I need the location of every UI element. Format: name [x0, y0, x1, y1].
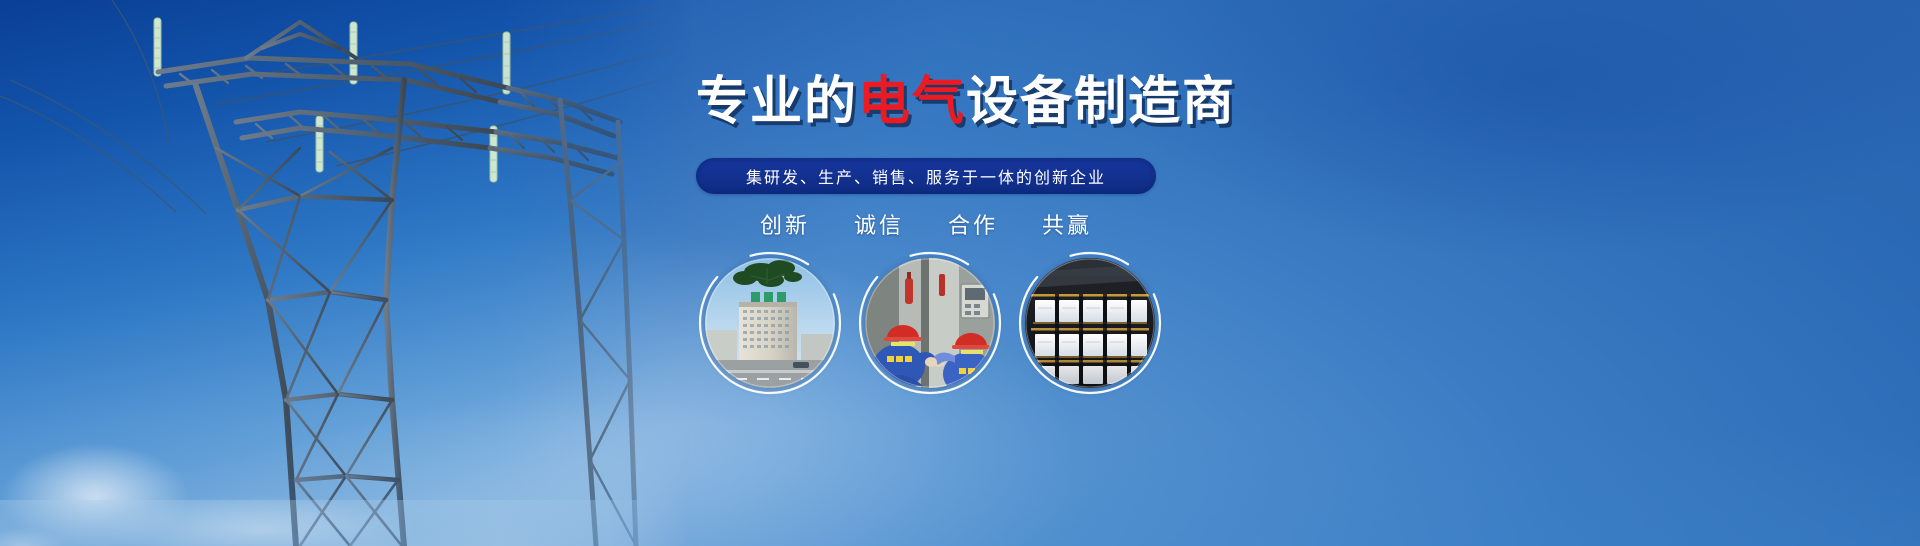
- circle-photo-row: [660, 258, 1200, 428]
- technicians-at-work-photo: [865, 258, 995, 388]
- tower-structure-illustration: [0, 0, 690, 546]
- banner-headline: 专业的电气设备制造商: [696, 72, 1196, 132]
- transmission-tower-photo: [0, 0, 690, 546]
- product-showroom-photo: [1025, 258, 1155, 388]
- subtitle-pill: 集研发、生产、销售、服务于一体的创新企业: [696, 158, 1156, 194]
- headline-part1: 专业的: [696, 73, 858, 131]
- keyword-integrity: 诚信: [854, 208, 904, 240]
- subtitle-pill-text: 集研发、生产、销售、服务于一体的创新企业: [746, 164, 1106, 188]
- keyword-row: 创新 诚信 合作 共赢: [696, 208, 1156, 240]
- insulator-string: [154, 18, 161, 76]
- technicians-illustration: [865, 258, 995, 388]
- circle-photo-showroom: [1025, 258, 1155, 388]
- hero-banner: 专业的电气设备制造商 集研发、生产、销售、服务于一体的创新企业 创新 诚信 合作…: [0, 0, 1920, 546]
- keyword-innovation: 创新: [760, 208, 810, 240]
- insulator-string: [316, 116, 323, 172]
- office-building-illustration: [705, 258, 835, 388]
- headline-highlight: 电气: [858, 73, 966, 131]
- keyword-winwin: 共赢: [1042, 208, 1092, 240]
- circle-photo-office-building: [705, 258, 835, 388]
- office-building-photo: [705, 258, 835, 388]
- circle-photo-technicians: [865, 258, 995, 388]
- showroom-illustration: [1025, 258, 1155, 388]
- headline-part2: 设备制造商: [966, 73, 1236, 131]
- keyword-cooperation: 合作: [948, 208, 998, 240]
